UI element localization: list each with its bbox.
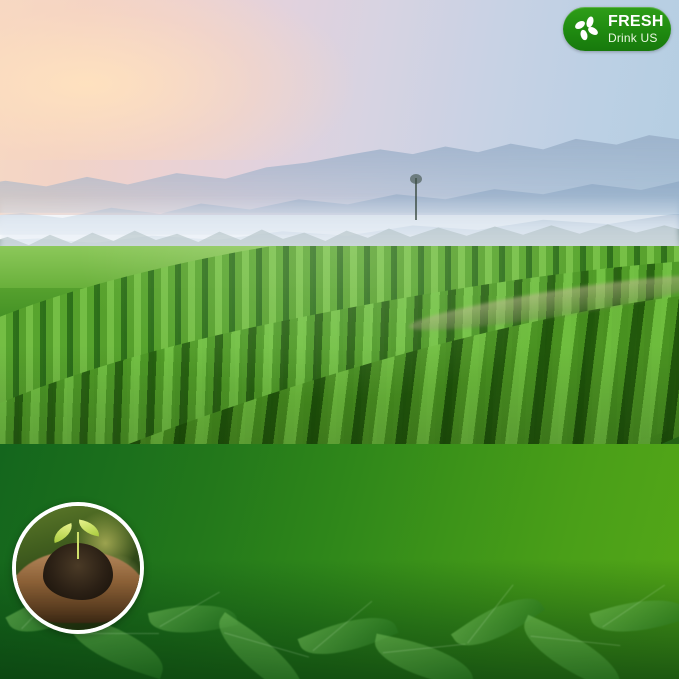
- infographic-card: FRESH Drink US HOW WE GROW GREEN TEA We …: [0, 0, 679, 679]
- sprout-stem: [77, 532, 79, 559]
- lone-tree: [415, 178, 417, 220]
- logo-line-1: FRESH: [608, 14, 664, 30]
- leaf-cluster-icon: [571, 13, 603, 45]
- field-shading: [0, 246, 679, 444]
- logo-line-2: Drink US: [608, 32, 664, 44]
- hands-holding-seedling-photo: [12, 502, 144, 634]
- tea-field: [0, 246, 679, 444]
- tea-plantation-photo: [0, 0, 679, 444]
- logo-text: FRESH Drink US: [608, 14, 664, 44]
- brand-logo-badge[interactable]: FRESH Drink US: [563, 7, 671, 51]
- sunrise-glow: [0, 0, 353, 160]
